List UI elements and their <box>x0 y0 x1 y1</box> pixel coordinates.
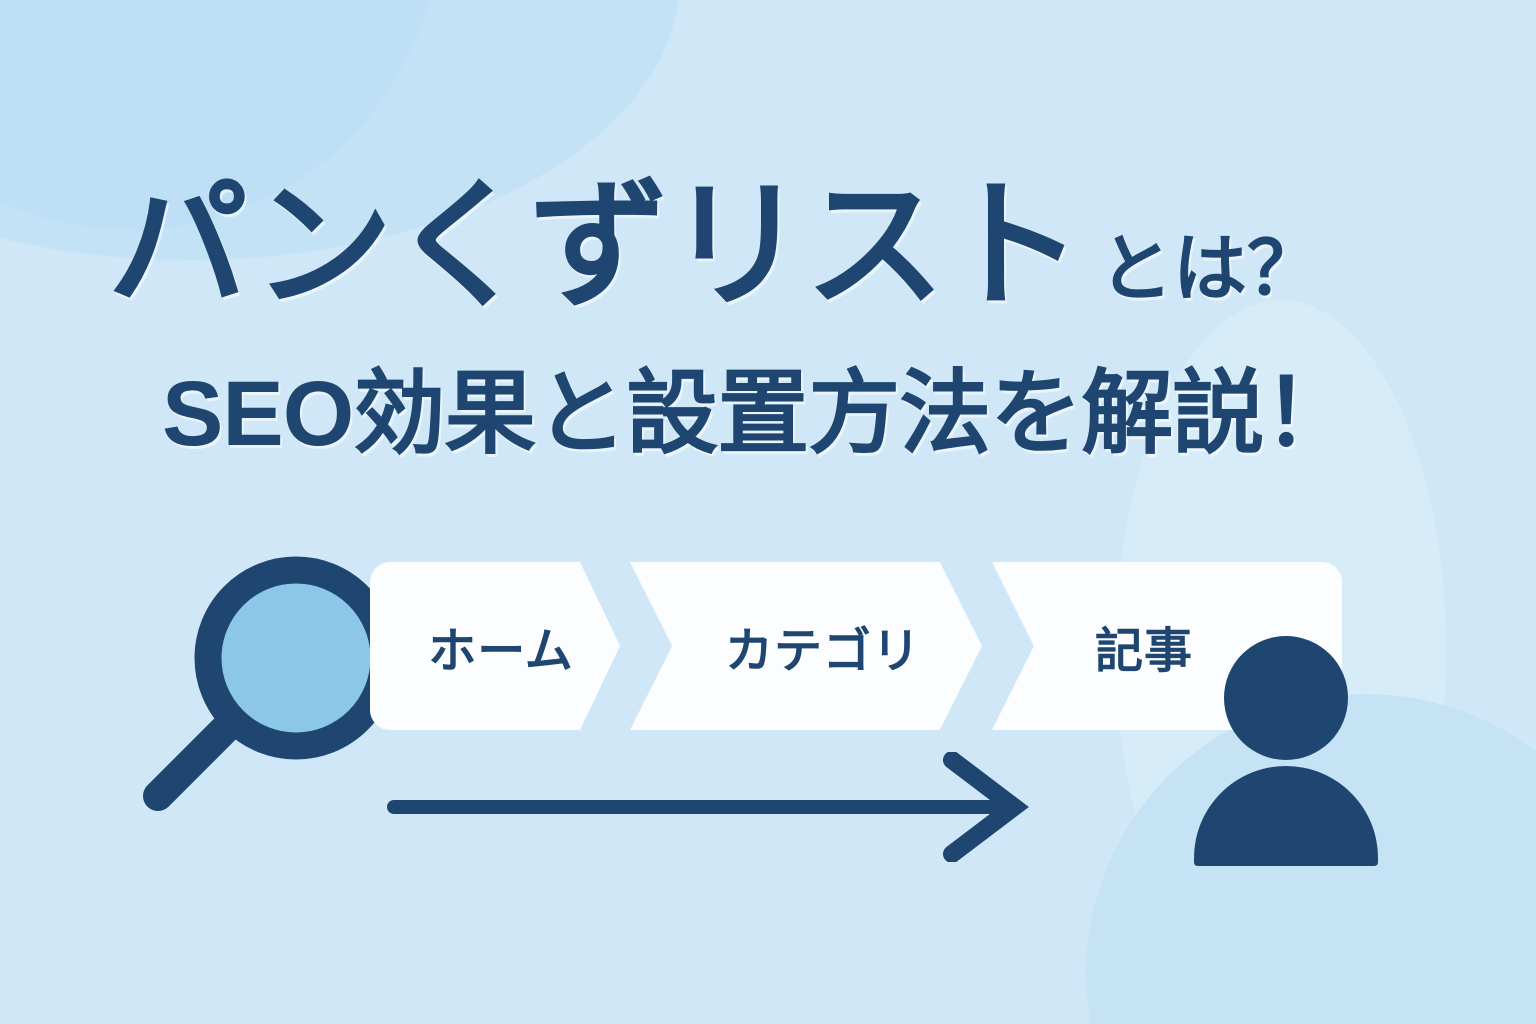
page-subtitle: SEO効果と設置方法を解説！ <box>162 368 1354 460</box>
breadcrumb-item-label: ホーム <box>428 611 574 681</box>
breadcrumb-item-home[interactable]: ホーム <box>370 562 620 730</box>
breadcrumb-item-category[interactable]: カテゴリ <box>630 562 982 730</box>
breadcrumb-item-label: カテゴリ <box>725 611 921 681</box>
page-title-suffix: とは？ <box>1099 232 1321 306</box>
page-title: パンくずリスト とは？ <box>108 176 1408 346</box>
breadcrumb-item-label: 記事 <box>1095 611 1193 681</box>
hero-banner: パンくずリスト とは？ SEO効果と設置方法を解説！ ホーム カテゴリ 記事 <box>0 0 1536 1024</box>
person-user-icon <box>1186 636 1386 866</box>
page-title-main: パンくずリスト <box>108 176 1081 316</box>
right-arrow-icon <box>386 752 1046 862</box>
